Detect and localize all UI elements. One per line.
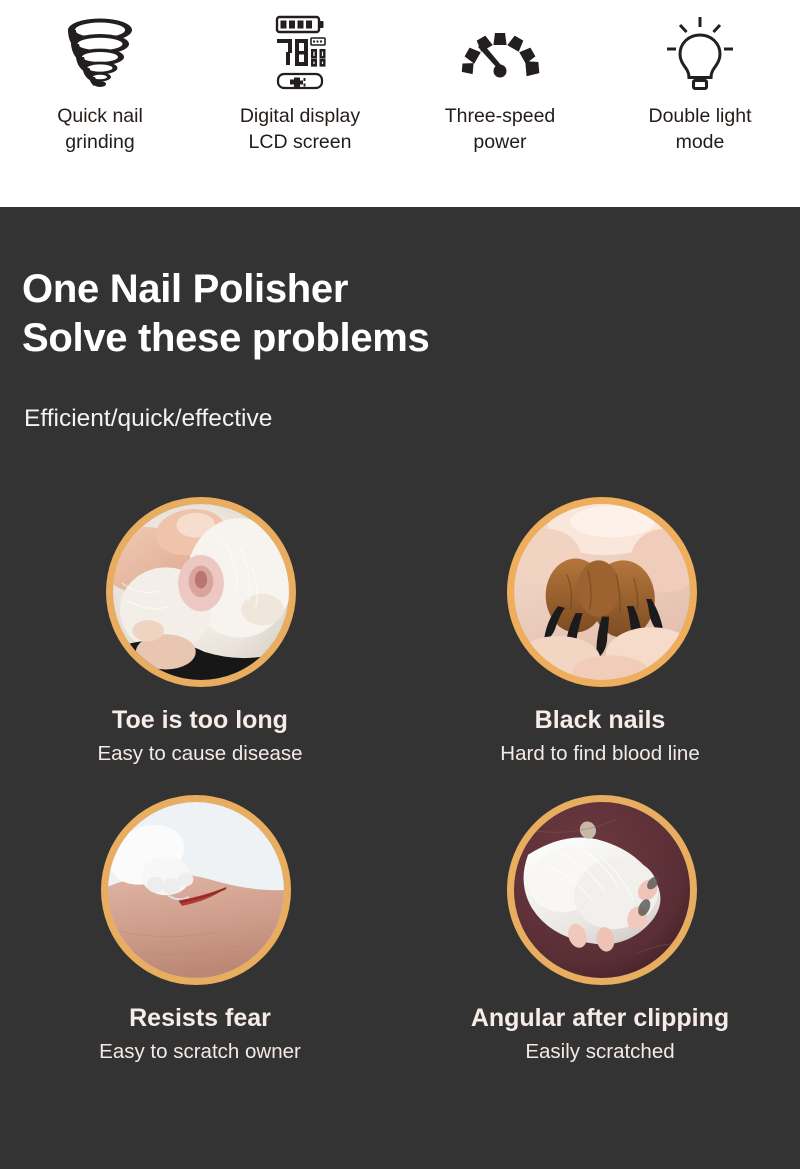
page-title: One Nail Polisher Solve these problems (22, 265, 429, 363)
thumbnail-wrapper (507, 497, 697, 687)
problem-image-angular-after-clipping (507, 795, 697, 985)
speedometer-icon (402, 14, 598, 94)
lcd-display-icon (202, 14, 398, 94)
thumbnail-wrapper (106, 497, 296, 687)
problem-image-toe-too-long (106, 497, 296, 687)
thumbnail-wrapper (101, 795, 291, 985)
dark-content-section: One Nail Polisher Solve these problems E… (0, 207, 800, 1169)
thumbnail-wrapper (507, 795, 697, 985)
problem-card-resists-fear: Resists fear Easy to scratch owner (0, 795, 400, 1063)
problem-title: Resists fear (129, 1005, 271, 1033)
problem-subtitle: Easily scratched (525, 1041, 674, 1064)
problem-card-angular-after-clipping: Angular after clipping Easily scratched (400, 795, 800, 1063)
feature-label: Double light mode (649, 104, 752, 156)
problem-grid: Toe is too long Easy to cause disease (0, 497, 800, 1063)
problem-subtitle: Hard to find blood line (500, 743, 699, 766)
problem-title: Toe is too long (112, 707, 288, 735)
feature-item-digital-display: Digital display LCD screen (202, 14, 398, 156)
feature-label: Quick nail grinding (57, 104, 143, 156)
subheadline: Efficient/quick/effective (24, 405, 272, 433)
headline-line-1: One Nail Polisher (22, 265, 429, 314)
feature-label: Three-speed power (445, 104, 556, 156)
feature-item-quick-nail-grinding: Quick nail grinding (2, 14, 198, 156)
problem-row: Resists fear Easy to scratch owner (0, 795, 800, 1063)
headline-line-2: Solve these problems (22, 314, 429, 363)
problem-subtitle: Easy to scratch owner (99, 1041, 301, 1064)
problem-card-toe-too-long: Toe is too long Easy to cause disease (0, 497, 400, 765)
problem-subtitle: Easy to cause disease (97, 743, 302, 766)
problem-title: Black nails (535, 707, 666, 735)
problem-row: Toe is too long Easy to cause disease (0, 497, 800, 765)
feature-strip: Quick nail grinding (0, 0, 800, 207)
problem-image-resists-fear (101, 795, 291, 985)
problem-card-black-nails: Black nails Hard to find blood line (400, 497, 800, 765)
tornado-grinder-icon (2, 14, 198, 94)
feature-label: Digital display LCD screen (240, 104, 360, 156)
feature-item-double-light-mode: Double light mode (602, 14, 798, 156)
problem-image-black-nails (507, 497, 697, 687)
light-bulb-icon (602, 14, 798, 94)
feature-item-three-speed-power: Three-speed power (402, 14, 598, 156)
problem-title: Angular after clipping (471, 1005, 729, 1033)
infographic-page: Quick nail grinding (0, 0, 800, 1169)
